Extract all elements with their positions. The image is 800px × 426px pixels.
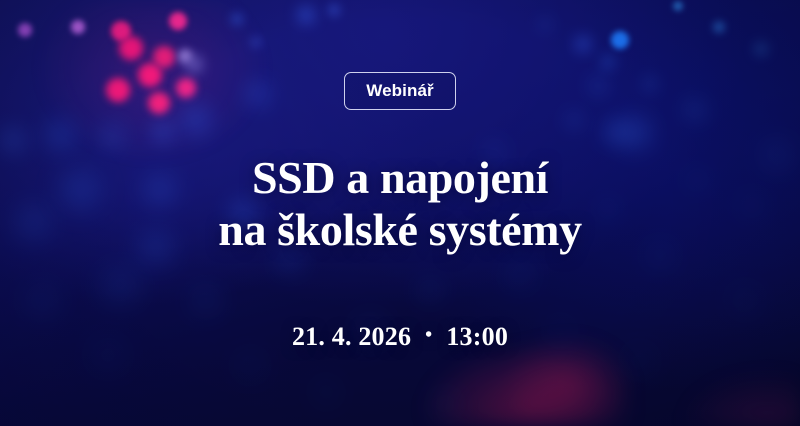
page-title: SSD a napojení na školské systémy <box>218 152 581 255</box>
banner-content: Webinář SSD a napojení na školské systém… <box>0 0 800 426</box>
event-time: 13:00 <box>446 322 508 352</box>
headline-line-1: SSD a napojení <box>218 152 581 204</box>
bullet-separator-icon: • <box>425 325 432 345</box>
webinar-banner: Webinář SSD a napojení na školské systém… <box>0 0 800 426</box>
event-datetime: 21. 4. 2026 • 13:00 <box>292 322 508 352</box>
webinar-badge: Webinář <box>344 72 455 110</box>
headline-line-2: na školské systémy <box>218 204 581 256</box>
event-date: 21. 4. 2026 <box>292 322 411 352</box>
